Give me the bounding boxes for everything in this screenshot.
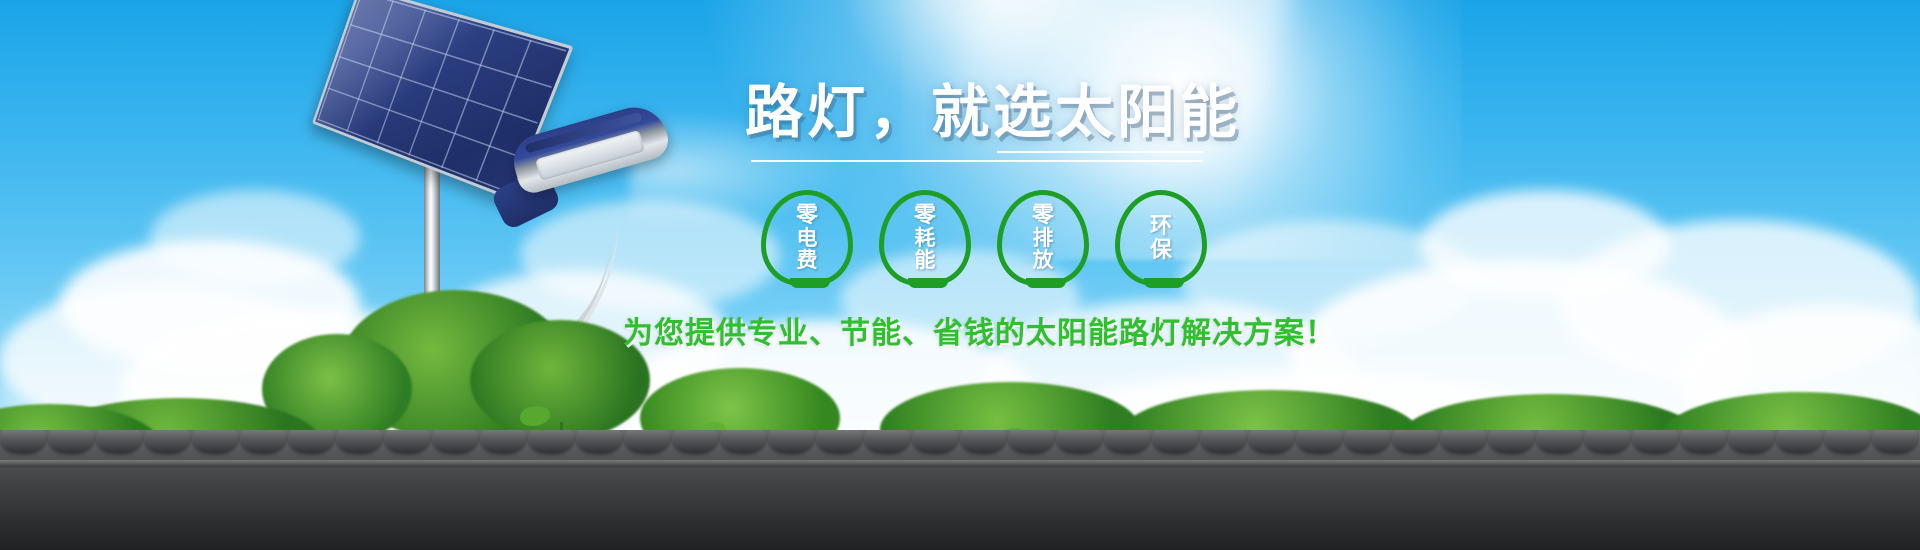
badge-zero-electricity: 零 电 费: [761, 190, 853, 286]
feature-badge-row: 零 电 费 零 耗 能 零 排 放: [745, 190, 1365, 286]
badge-line1: 耗: [915, 228, 936, 250]
badge-zero-consumption: 零 耗 能: [879, 190, 971, 286]
badge-line2: 能: [915, 250, 936, 272]
badge-zero-label: 零: [796, 204, 818, 227]
solar-street-lamp-banner: 路灯，就选太阳能 零 电 费 零 耗 能: [0, 0, 1920, 550]
divider-rule-primary: [751, 160, 1203, 162]
badge-line2: 放: [1033, 250, 1054, 272]
badge-zero-emission: 零 排 放: [997, 190, 1089, 286]
divider-rule-secondary: [997, 151, 1203, 153]
brick-wall: [0, 430, 1920, 550]
banner-copy: 路灯，就选太阳能 零 电 费 零 耗 能: [745, 84, 1365, 352]
badge-eco-friendly: 环 保: [1115, 190, 1207, 286]
banner-subline: 为您提供专业、节能、省钱的太阳能路灯解决方案！: [623, 308, 1365, 352]
badge-line1: 排: [1033, 228, 1054, 250]
badge-line1: 电: [797, 228, 818, 250]
banner-headline: 路灯，就选太阳能: [745, 84, 1365, 142]
badge-zero-label: 零: [1032, 204, 1054, 227]
badge-line2: 费: [797, 250, 818, 272]
badge-line1: 环: [1150, 215, 1172, 238]
headline-rules: [751, 160, 1203, 170]
badge-zero-label: 零: [914, 204, 936, 227]
badge-line2: 保: [1150, 239, 1172, 262]
